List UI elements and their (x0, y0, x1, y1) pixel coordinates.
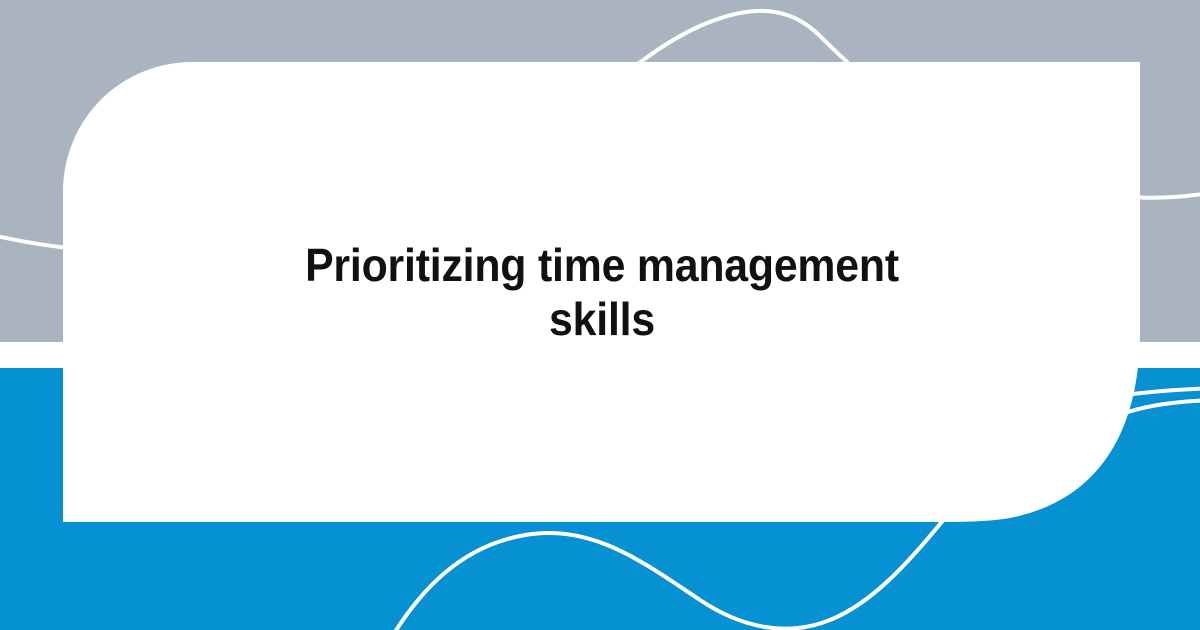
content-card (63, 62, 1140, 522)
social-card-canvas: Prioritizing time management skills (0, 0, 1200, 630)
background-artwork (0, 0, 1200, 630)
